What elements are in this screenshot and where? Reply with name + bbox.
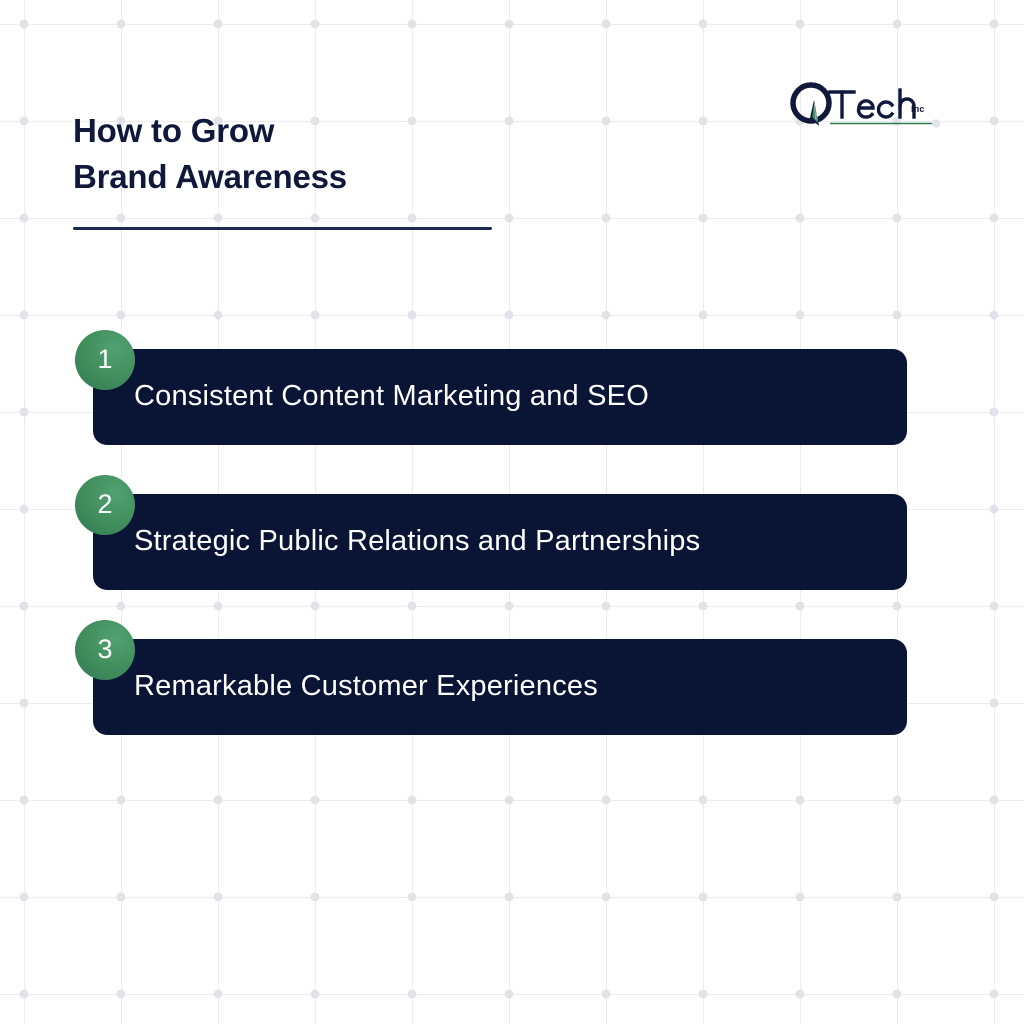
list-item-label: Strategic Public Relations and Partnersh…: [134, 526, 700, 558]
list-item-number: 2: [97, 491, 112, 518]
list-item-number: 3: [97, 636, 112, 663]
title-block: How to Grow Brand Awareness: [73, 108, 347, 199]
list-item-number: 1: [97, 346, 112, 373]
list-item-label: Consistent Content Marketing and SEO: [134, 381, 649, 413]
list-item[interactable]: Remarkable Customer Experiences 3: [0, 620, 1024, 770]
list-item-card[interactable]: Remarkable Customer Experiences: [93, 639, 907, 735]
list-item-card[interactable]: Strategic Public Relations and Partnersh…: [93, 494, 907, 590]
logo-suffix: Inc: [911, 104, 925, 114]
list-item-number-badge: 3: [75, 620, 135, 680]
title-underline: [73, 227, 492, 230]
qtech-logo: Inc: [788, 82, 940, 132]
list-item-number-badge: 1: [75, 330, 135, 390]
page-title: How to Grow Brand Awareness: [73, 108, 347, 199]
list-item-card[interactable]: Consistent Content Marketing and SEO: [93, 349, 907, 445]
list-item-label: Remarkable Customer Experiences: [134, 671, 598, 703]
list-item[interactable]: Consistent Content Marketing and SEO 1: [0, 330, 1024, 480]
list-item-number-badge: 2: [75, 475, 135, 535]
list-item[interactable]: Strategic Public Relations and Partnersh…: [0, 475, 1024, 625]
